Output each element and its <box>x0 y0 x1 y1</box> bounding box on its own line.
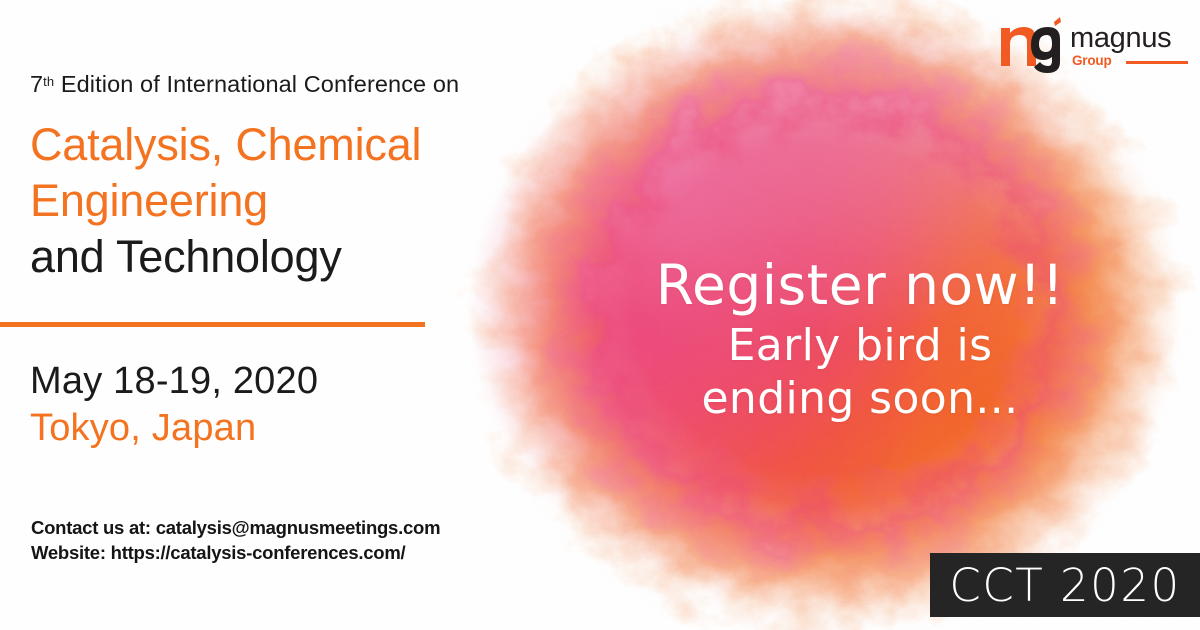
logo-wordmark: magnus <box>1070 23 1171 54</box>
logo-underline-bar <box>1126 61 1188 64</box>
title-line-1: Catalysis, Chemical <box>30 117 500 173</box>
conference-code-badge: CCT 2020 <box>930 553 1200 617</box>
divider-rule <box>0 322 425 327</box>
promo-subline-1: Early bird is <box>600 319 1120 372</box>
edition-text: Edition of International Conference on <box>54 71 459 97</box>
logo-subtitle: Group <box>1072 53 1112 68</box>
page-title: Catalysis, Chemical Engineering and Tech… <box>30 117 500 285</box>
event-date: May 18-19, 2020 <box>30 358 318 405</box>
conference-code-label: CCT 2020 <box>949 559 1180 612</box>
title-line-3: and Technology <box>30 229 500 285</box>
promo-headline: Register now!! <box>600 255 1120 315</box>
magnus-group-logo[interactable]: magnus Group <box>998 14 1188 78</box>
contact-block: Contact us at: catalysis@magnusmeetings.… <box>31 515 440 565</box>
promo-message: Register now!! Early bird is ending soon… <box>600 255 1120 425</box>
title-line-2: Engineering <box>30 173 500 229</box>
edition-ordinal-suffix: th <box>43 74 54 89</box>
edition-line: 7th Edition of International Conference … <box>30 71 459 98</box>
event-details-column: 7th Edition of International Conference … <box>30 0 550 630</box>
ng-monogram-icon <box>998 14 1068 74</box>
conference-banner: 7th Edition of International Conference … <box>0 0 1200 630</box>
event-venue: Tokyo, Japan <box>30 405 256 452</box>
contact-website-line[interactable]: Website: https://catalysis-conferences.c… <box>31 540 440 565</box>
edition-number: 7 <box>30 71 43 97</box>
contact-email-line[interactable]: Contact us at: catalysis@magnusmeetings.… <box>31 515 440 540</box>
promo-subline-2: ending soon... <box>600 372 1120 425</box>
